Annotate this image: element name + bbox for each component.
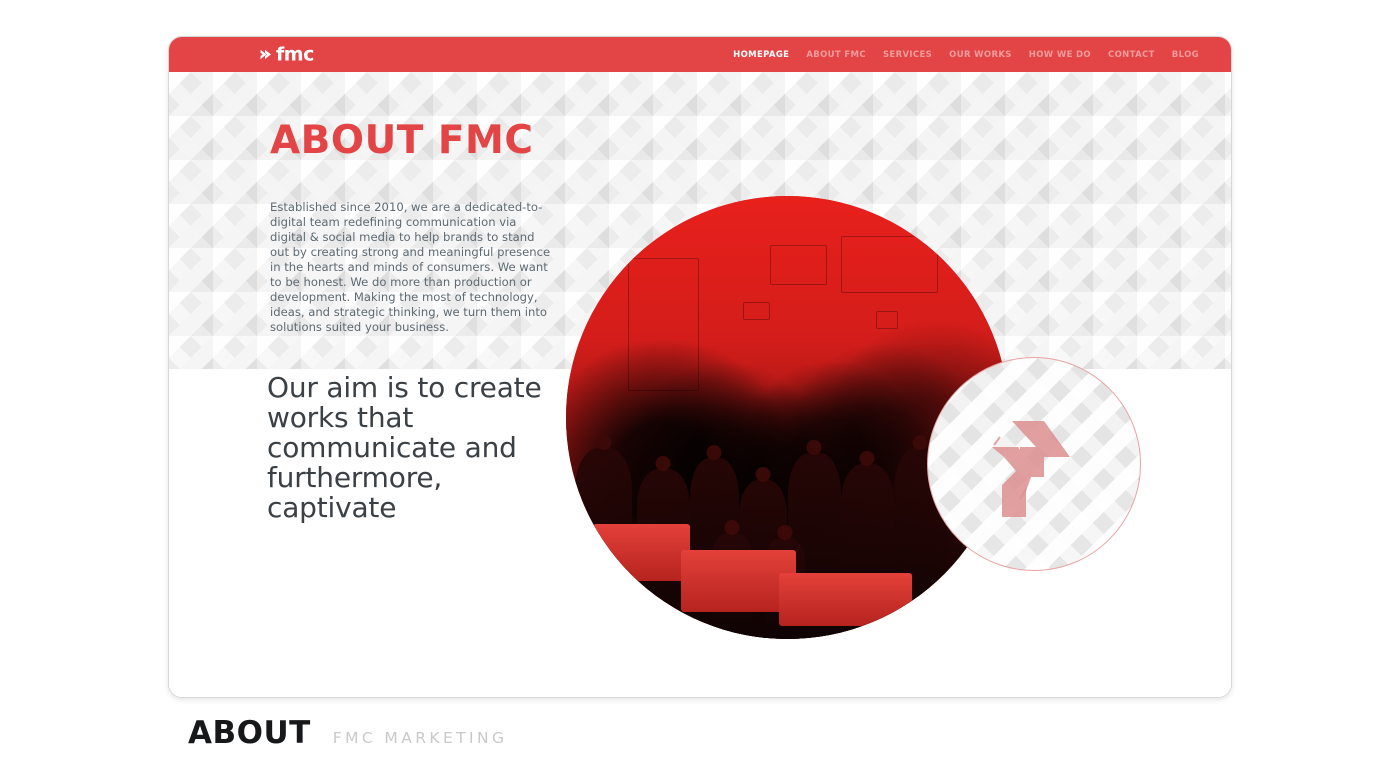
nav-item-about-fmc[interactable]: ABOUT FMC <box>806 50 866 59</box>
bottom-caption: ABOUT FMC MARKETING <box>188 718 507 749</box>
aim-heading: Our aim is to create works that communic… <box>267 373 567 523</box>
nav-item-services[interactable]: SERVICES <box>883 50 932 59</box>
intro-paragraph: Established since 2010, we are a dedicat… <box>270 200 555 335</box>
nav-item-contact[interactable]: CONTACT <box>1108 50 1155 59</box>
wall-speaker-decor <box>743 302 770 320</box>
nav-item-blog[interactable]: BLOG <box>1172 50 1199 59</box>
caption-sub-text: FMC MARKETING <box>333 731 508 747</box>
wall-panel-decor <box>841 236 938 294</box>
wall-frame-decor <box>628 258 699 391</box>
caption-main-text: ABOUT <box>188 718 311 749</box>
main-nav: HOMEPAGE ABOUT FMC SERVICES OUR WORKS HO… <box>733 50 1199 59</box>
top-navigation-bar: fmc HOMEPAGE ABOUT FMC SERVICES OUR WORK… <box>169 37 1231 72</box>
fmc-chevron-logo-icon <box>974 399 1094 529</box>
nav-item-homepage[interactable]: HOMEPAGE <box>733 50 789 59</box>
brand-logo[interactable]: fmc <box>259 45 314 64</box>
site-container: fmc HOMEPAGE ABOUT FMC SERVICES OUR WORK… <box>168 36 1232 698</box>
wall-shelf-decor <box>770 245 828 285</box>
nav-item-how-we-do[interactable]: HOW WE DO <box>1029 50 1091 59</box>
logo-badge-circle <box>927 357 1141 571</box>
bench-decor <box>779 573 912 626</box>
brand-logo-text: fmc <box>276 45 314 64</box>
nav-item-our-works[interactable]: OUR WORKS <box>949 50 1012 59</box>
wall-speaker-decor <box>876 311 898 329</box>
bench-decor <box>593 524 690 582</box>
page-title: ABOUT FMC <box>270 121 533 160</box>
double-chevron-icon <box>259 48 273 62</box>
